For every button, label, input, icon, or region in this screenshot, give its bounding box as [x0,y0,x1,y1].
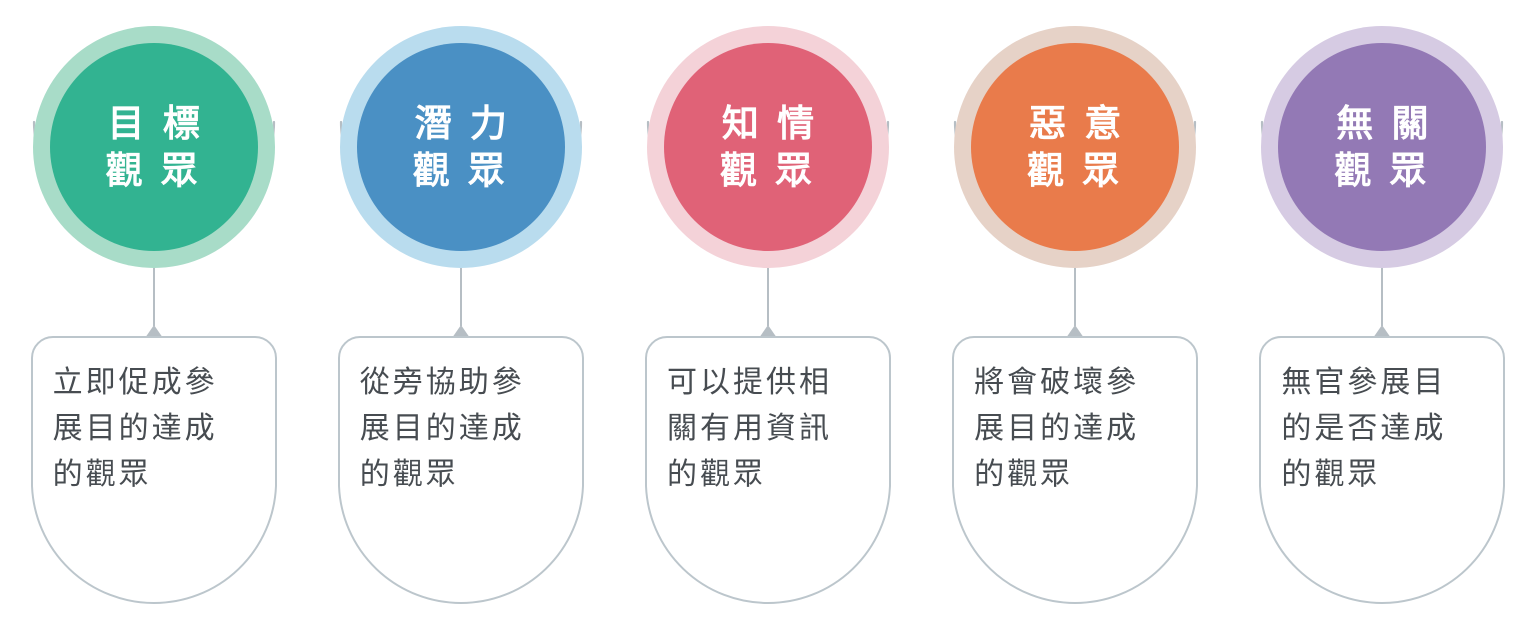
connector-line-5 [1367,268,1397,338]
circle-label-4: 惡 意 觀 眾 [1025,100,1125,195]
circle-disc-1[interactable]: 目 標 觀 眾 [50,43,258,251]
circle-label-3: 知 情 觀 眾 [718,100,818,195]
circle-group-2: 潛 力 觀 眾 [338,26,584,272]
card-text-1: 立即促成參 展目的達成 的觀眾 [31,360,277,498]
circle-disc-4[interactable]: 惡 意 觀 眾 [971,43,1179,251]
circle-disc-5[interactable]: 無 關 觀 眾 [1278,43,1486,251]
connector-line-2 [446,268,476,338]
description-card-2: 從旁協助參 展目的達成 的觀眾 [338,336,584,604]
circle-label-5: 無 關 觀 眾 [1332,100,1432,195]
circle-label-1: 目 標 觀 眾 [103,100,203,195]
connector-line-3 [753,268,783,338]
card-text-2: 從旁協助參 展目的達成 的觀眾 [338,360,584,498]
diagram-column-target-audience: 目 標 觀 眾 立即促成參 展目的達成 的觀眾 [0,0,307,641]
diagram-column-hostile-audience: 惡 意 觀 眾 將會破壞參 展目的達成 的觀眾 [922,0,1229,641]
circle-group-1: 目 標 觀 眾 [31,26,277,272]
circle-label-2: 潛 力 觀 眾 [411,100,511,195]
description-card-5: 無官參展目 的是否達成 的觀眾 [1259,336,1505,604]
circle-group-4: 惡 意 觀 眾 [952,26,1198,272]
diagram-column-informed-audience: 知 情 觀 眾 可以提供相 關有用資訊 的觀眾 [614,0,921,641]
circle-disc-2[interactable]: 潛 力 觀 眾 [357,43,565,251]
card-text-3: 可以提供相 關有用資訊 的觀眾 [645,360,891,498]
diagram-column-potential-audience: 潛 力 觀 眾 從旁協助參 展目的達成 的觀眾 [307,0,614,641]
circle-group-3: 知 情 觀 眾 [645,26,891,272]
card-text-5: 無官參展目 的是否達成 的觀眾 [1259,360,1505,498]
connector-line-1 [139,268,169,338]
description-card-1: 立即促成參 展目的達成 的觀眾 [31,336,277,604]
connector-line-4 [1060,268,1090,338]
circle-disc-3[interactable]: 知 情 觀 眾 [664,43,872,251]
card-text-4: 將會破壞參 展目的達成 的觀眾 [952,360,1198,498]
description-card-4: 將會破壞參 展目的達成 的觀眾 [952,336,1198,604]
diagram-column-unrelated-audience: 無 關 觀 眾 無官參展目 的是否達成 的觀眾 [1229,0,1536,641]
circle-group-5: 無 關 觀 眾 [1259,26,1505,272]
audience-segmentation-diagram: 目 標 觀 眾 立即促成參 展目的達成 的觀眾 潛 力 [0,0,1536,641]
description-card-3: 可以提供相 關有用資訊 的觀眾 [645,336,891,604]
diagram-columns: 目 標 觀 眾 立即促成參 展目的達成 的觀眾 潛 力 [0,0,1536,641]
